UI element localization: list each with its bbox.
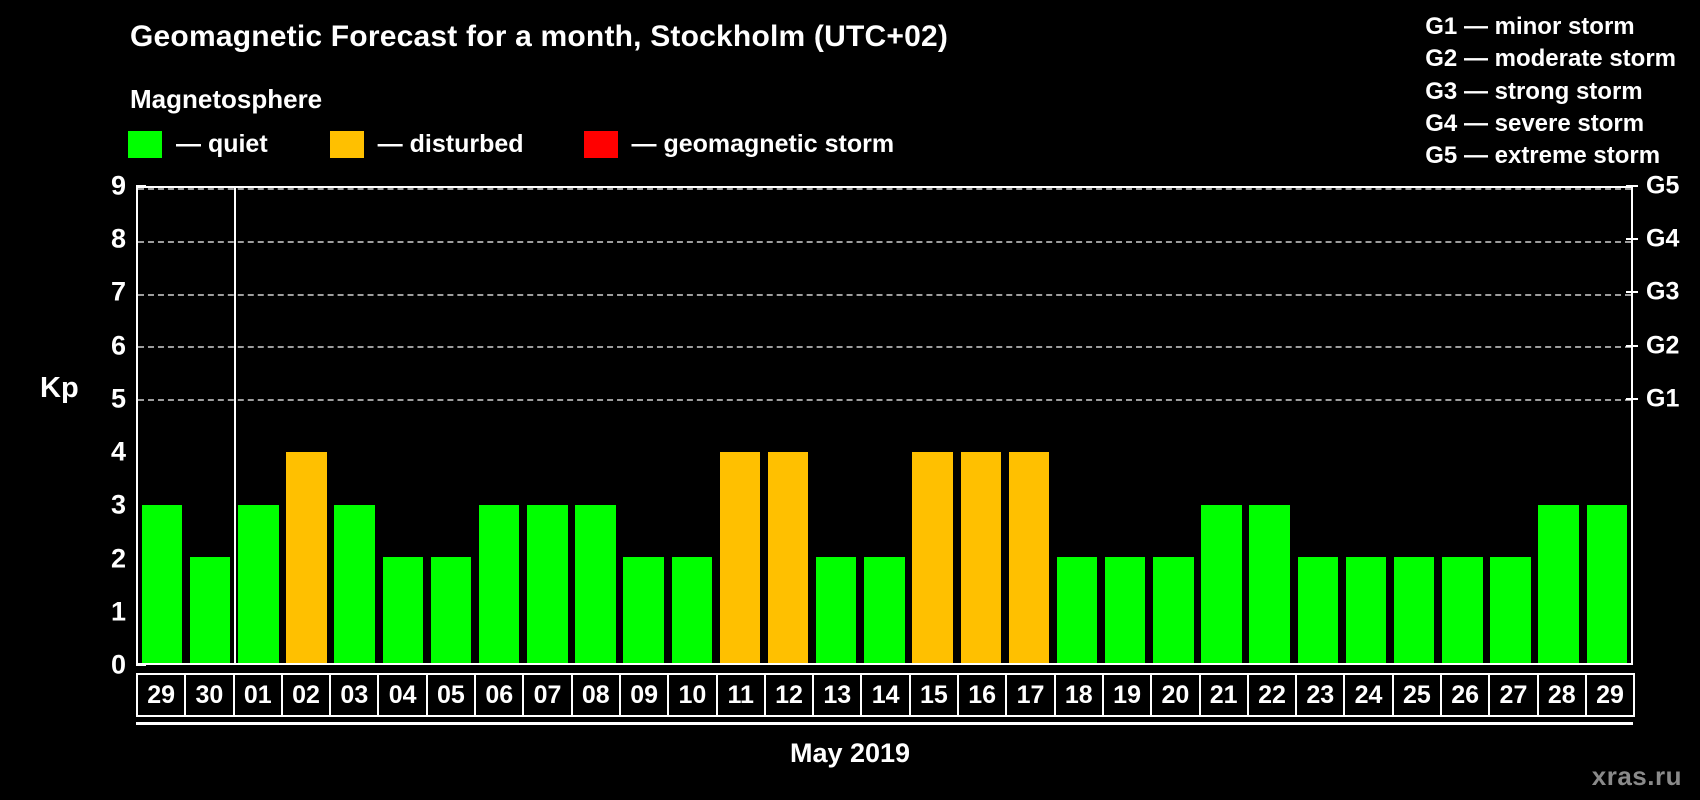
g-axis-label-G5: G5: [1646, 172, 1679, 201]
x-axis-date-20-19[interactable]: 19: [1102, 673, 1152, 717]
x-axis-date-16-15[interactable]: 15: [909, 673, 959, 717]
bar-09-kp-2[interactable]: [623, 557, 663, 663]
bar-02-kp-4[interactable]: [286, 452, 326, 663]
watermark: xras.ru: [1592, 761, 1682, 792]
x-axis-date-4-03[interactable]: 03: [329, 673, 379, 717]
bar-cell-21[interactable]: [1197, 188, 1245, 663]
plot-area: [136, 186, 1633, 665]
bar-cell-14[interactable]: [860, 188, 908, 663]
gridline-kp-6: [138, 346, 1631, 348]
g-axis-tick-G3: [1626, 291, 1638, 293]
x-axis-date-30-29[interactable]: 29: [1585, 673, 1635, 717]
gridline-kp-5: [138, 399, 1631, 401]
x-axis-date-7-06[interactable]: 06: [474, 673, 524, 717]
x-axis-date-labels: 2930010203040506070809101112131415161718…: [136, 673, 1633, 717]
bar-12-kp-4[interactable]: [768, 452, 808, 663]
bar-cell-20[interactable]: [1149, 188, 1197, 663]
y-tick-label-5: 5: [111, 383, 126, 414]
bar-06-kp-3[interactable]: [479, 505, 519, 663]
x-axis-date-17-16[interactable]: 16: [957, 673, 1007, 717]
bar-cell-24[interactable]: [1342, 188, 1390, 663]
bar-cell-16[interactable]: [957, 188, 1005, 663]
y-tick-label-4: 4: [111, 437, 126, 468]
bar-07-kp-3[interactable]: [527, 505, 567, 663]
bar-cell-23[interactable]: [1294, 188, 1342, 663]
x-axis-date-1-30[interactable]: 30: [184, 673, 234, 717]
bar-cell-01[interactable]: [234, 188, 282, 663]
g-axis-tick-G2: [1626, 345, 1638, 347]
g-axis-tick-G5: [1626, 185, 1638, 187]
bar-cell-19[interactable]: [1101, 188, 1149, 663]
bar-29-kp-3[interactable]: [142, 505, 182, 663]
y-axis-title: Kp: [40, 372, 79, 405]
bar-11-kp-4[interactable]: [720, 452, 760, 663]
forecast-divider-line: [234, 188, 236, 663]
x-axis-date-24-23[interactable]: 23: [1295, 673, 1345, 717]
bar-01-kp-3[interactable]: [238, 505, 278, 663]
x-axis-date-2-01[interactable]: 01: [233, 673, 283, 717]
gridline-kp-9: [138, 188, 1631, 190]
bar-20-kp-2[interactable]: [1153, 557, 1193, 663]
bar-10-kp-2[interactable]: [672, 557, 712, 663]
g-axis-tick-G1: [1626, 398, 1638, 400]
bar-cell-15[interactable]: [909, 188, 957, 663]
y-tick-label-0: 0: [111, 650, 126, 681]
y-tick-label-9: 9: [111, 171, 126, 202]
gridline-kp-8: [138, 241, 1631, 243]
bar-cell-28[interactable]: [1535, 188, 1583, 663]
x-axis-date-12-11[interactable]: 11: [716, 673, 766, 717]
bar-cell-13[interactable]: [812, 188, 860, 663]
x-axis-date-28-27[interactable]: 27: [1488, 673, 1538, 717]
bar-21-kp-3[interactable]: [1201, 505, 1241, 663]
bar-cell-06[interactable]: [475, 188, 523, 663]
x-axis-date-22-21[interactable]: 21: [1199, 673, 1249, 717]
x-axis-date-0-29[interactable]: 29: [136, 673, 186, 717]
bar-cell-29[interactable]: [138, 188, 186, 663]
bar-cell-12[interactable]: [764, 188, 812, 663]
bar-03-kp-3[interactable]: [334, 505, 374, 663]
bar-08-kp-3[interactable]: [575, 505, 615, 663]
x-axis-date-18-17[interactable]: 17: [1005, 673, 1055, 717]
bar-cell-17[interactable]: [1005, 188, 1053, 663]
x-axis-date-23-22[interactable]: 22: [1247, 673, 1297, 717]
bar-26-kp-2[interactable]: [1442, 557, 1482, 663]
x-axis-date-14-13[interactable]: 13: [812, 673, 862, 717]
x-axis-date-5-04[interactable]: 04: [377, 673, 427, 717]
bar-cell-25[interactable]: [1390, 188, 1438, 663]
bar-18-kp-2[interactable]: [1057, 557, 1097, 663]
x-axis-date-9-08[interactable]: 08: [571, 673, 621, 717]
x-axis-date-11-10[interactable]: 10: [667, 673, 717, 717]
bar-15-kp-4[interactable]: [912, 452, 952, 663]
y-tick-label-8: 8: [111, 224, 126, 255]
g-axis-label-G3: G3: [1646, 278, 1679, 307]
bar-28-kp-3[interactable]: [1538, 505, 1578, 663]
bar-23-kp-2[interactable]: [1298, 557, 1338, 663]
y-tick-label-1: 1: [111, 596, 126, 627]
bar-cell-30[interactable]: [186, 188, 234, 663]
bar-24-kp-2[interactable]: [1346, 557, 1386, 663]
bar-cell-03[interactable]: [331, 188, 379, 663]
bar-cell-29[interactable]: [1583, 188, 1631, 663]
bar-cell-18[interactable]: [1053, 188, 1101, 663]
g-axis-label-G1: G1: [1646, 384, 1679, 413]
bar-29-kp-3[interactable]: [1587, 505, 1627, 663]
bar-cell-02[interactable]: [282, 188, 330, 663]
bar-30-kp-2[interactable]: [190, 557, 230, 663]
x-axis-date-26-25[interactable]: 25: [1392, 673, 1442, 717]
bar-22-kp-3[interactable]: [1249, 505, 1289, 663]
x-axis-date-29-28[interactable]: 28: [1537, 673, 1587, 717]
kp-bar-chart: Kp 0123456789 G1G2G3G4G5 293001020304050…: [0, 0, 1700, 800]
bar-13-kp-2[interactable]: [816, 557, 856, 663]
bar-19-kp-2[interactable]: [1105, 557, 1145, 663]
x-axis-date-13-12[interactable]: 12: [764, 673, 814, 717]
g-axis-labels: G1G2G3G4G5: [1646, 186, 1700, 665]
bar-series: [138, 188, 1631, 663]
x-axis-date-27-26[interactable]: 26: [1440, 673, 1490, 717]
x-axis-date-21-20[interactable]: 20: [1150, 673, 1200, 717]
bar-cell-10[interactable]: [668, 188, 716, 663]
g-axis-label-G4: G4: [1646, 225, 1679, 254]
bar-cell-04[interactable]: [379, 188, 427, 663]
bar-27-kp-2[interactable]: [1490, 557, 1530, 663]
bar-cell-22[interactable]: [1246, 188, 1294, 663]
bar-05-kp-2[interactable]: [431, 557, 471, 663]
g-axis-label-G2: G2: [1646, 331, 1679, 360]
y-axis-labels: 0123456789: [78, 186, 126, 665]
x-axis-date-19-18[interactable]: 18: [1054, 673, 1104, 717]
bar-cell-07[interactable]: [523, 188, 571, 663]
bar-cell-05[interactable]: [427, 188, 475, 663]
bar-25-kp-2[interactable]: [1394, 557, 1434, 663]
bar-16-kp-4[interactable]: [961, 452, 1001, 663]
bar-17-kp-4[interactable]: [1009, 452, 1049, 663]
bar-cell-26[interactable]: [1438, 188, 1486, 663]
bar-cell-09[interactable]: [620, 188, 668, 663]
x-axis-date-15-14[interactable]: 14: [860, 673, 910, 717]
x-axis-title: May 2019: [0, 738, 1700, 769]
x-axis-date-25-24[interactable]: 24: [1343, 673, 1393, 717]
y-tick-label-7: 7: [111, 277, 126, 308]
bar-cell-08[interactable]: [571, 188, 619, 663]
gridline-kp-7: [138, 294, 1631, 296]
x-axis-underline: [136, 722, 1633, 725]
bar-04-kp-2[interactable]: [383, 557, 423, 663]
bar-cell-27[interactable]: [1486, 188, 1534, 663]
x-axis-date-10-09[interactable]: 09: [619, 673, 669, 717]
y-tick-label-2: 2: [111, 543, 126, 574]
geomagnetic-forecast-page: Geomagnetic Forecast for a month, Stockh…: [0, 0, 1700, 800]
x-axis-date-6-05[interactable]: 05: [426, 673, 476, 717]
y-tick-label-3: 3: [111, 490, 126, 521]
bar-14-kp-2[interactable]: [864, 557, 904, 663]
bar-cell-11[interactable]: [716, 188, 764, 663]
g-axis-tick-G4: [1626, 238, 1638, 240]
y-tick-label-6: 6: [111, 330, 126, 361]
x-axis-date-3-02[interactable]: 02: [281, 673, 331, 717]
x-axis-date-8-07[interactable]: 07: [522, 673, 572, 717]
